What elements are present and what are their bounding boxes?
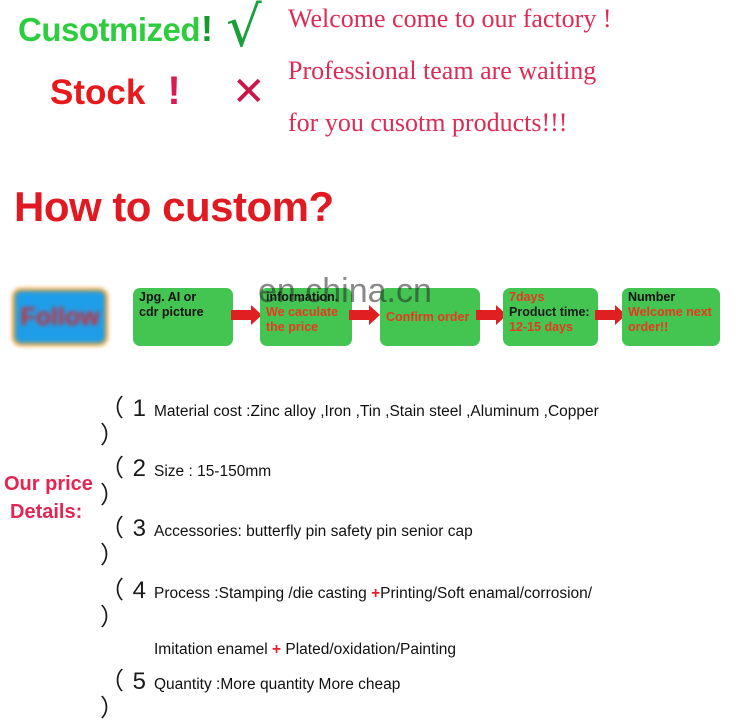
our-price-details-line-1: Our price: [4, 470, 93, 498]
list-item-number: （ 5 ）: [100, 668, 154, 722]
stock-exclamation: !: [167, 69, 180, 113]
stock-line: Stock!: [50, 69, 181, 114]
flow-step-2: information. We caculate the price: [260, 288, 352, 346]
banner-right-column: Welcome come to our factory ! Profession…: [288, 4, 738, 136]
our-price-details-line-2: Details:: [4, 498, 93, 526]
list-item-text-part-a: Process :Stamping /die casting: [154, 585, 371, 602]
flow-step-1: Jpg. AI or cdr picture: [133, 288, 233, 346]
customized-exclamation: !: [201, 8, 213, 49]
flow-step-5-line-1: Number: [628, 290, 715, 305]
list-item-text: Size : 15-150mm: [154, 455, 271, 485]
welcome-line-2: Professional team are waiting: [288, 58, 738, 84]
stock-word: Stock: [50, 73, 145, 112]
flow-step-5-line-3: order!!: [628, 320, 715, 335]
flow-step-4-line-2: Product time:: [509, 305, 593, 320]
plus-sign: +: [371, 585, 380, 602]
how-to-custom-heading: How to custom?: [14, 183, 334, 231]
list-item: （ 5 ） Quantity :More quantity More cheap: [100, 668, 742, 722]
flow-step-4-line-1: 7days: [509, 290, 593, 305]
flow-step-1-line-1: Jpg. AI or: [139, 290, 228, 305]
list-item-number: （ 1 ）: [100, 395, 154, 449]
list-item-text: Quantity :More quantity More cheap: [154, 668, 400, 698]
flow-step-2-line-1: information.: [266, 290, 347, 305]
list-item: （ 2 ） Size : 15-150mm: [100, 455, 742, 509]
flow-step-4: 7days Product time: 12-15 days: [503, 288, 598, 346]
flow-step-5: Number Welcome next order!!: [622, 288, 720, 346]
price-details-list: （ 1 ） Material cost :Zinc alloy ,Iron ,T…: [100, 395, 742, 727]
list-item: （ 1 ） Material cost :Zinc alloy ,Iron ,T…: [100, 395, 742, 449]
flow-step-5-line-2: Welcome next: [628, 305, 715, 320]
flow-step-3-line-1: Confirm order: [386, 310, 475, 325]
flow-arrow-1-icon: [231, 304, 263, 326]
flow-step-2-line-3: the price: [266, 320, 347, 335]
follow-box[interactable]: Follow: [12, 288, 108, 346]
list-item-text-part-b: Printing/Soft enamal/corrosion/: [380, 585, 592, 602]
list-item-continuation: Imitation enamel + Plated/oxidation/Pain…: [100, 636, 742, 663]
list-item: （ 4 ） Process :Stamping /die casting +Pr…: [100, 577, 742, 631]
flow-step-4-line-3: 12-15 days: [509, 320, 593, 335]
list-item-text: Material cost :Zinc alloy ,Iron ,Tin ,St…: [154, 395, 599, 425]
list-item-number: （ 3 ）: [100, 515, 154, 569]
flow-step-3: Confirm order: [380, 288, 480, 346]
welcome-line-1: Welcome come to our factory !: [288, 6, 738, 32]
cross-icon: ✕: [232, 72, 266, 112]
flow-arrow-2-icon: [349, 304, 381, 326]
process-flow-band: Follow Jpg. AI or cdr picture informatio…: [0, 278, 742, 360]
welcome-line-3: for you cusotm products!!!: [288, 110, 738, 136]
promo-banner: Cusotmized! Stock! √ ✕ Welcome come to o…: [0, 0, 742, 172]
list-item-sub-part-a: Imitation enamel: [154, 641, 272, 658]
flow-step-1-line-2: cdr picture: [139, 305, 228, 320]
list-item-sub-part-b: Plated/oxidation/Painting: [281, 641, 456, 658]
list-item-number: （ 4 ）: [100, 577, 154, 631]
list-item-number: （ 2 ）: [100, 455, 154, 509]
list-item: （ 3 ） Accessories: butterfly pin safety …: [100, 515, 742, 569]
flow-step-2-line-2: We caculate: [266, 305, 347, 320]
customized-line: Cusotmized!: [18, 8, 213, 50]
follow-label: Follow: [20, 303, 99, 332]
plus-sign: +: [272, 641, 281, 658]
list-item-text: Accessories: butterfly pin safety pin se…: [154, 515, 473, 545]
customized-word: Cusotmized: [18, 11, 200, 48]
our-price-details-label: Our price Details:: [4, 470, 93, 526]
checkmark-icon: √: [226, 0, 262, 56]
list-item-text: Process :Stamping /die casting +Printing…: [154, 577, 592, 607]
